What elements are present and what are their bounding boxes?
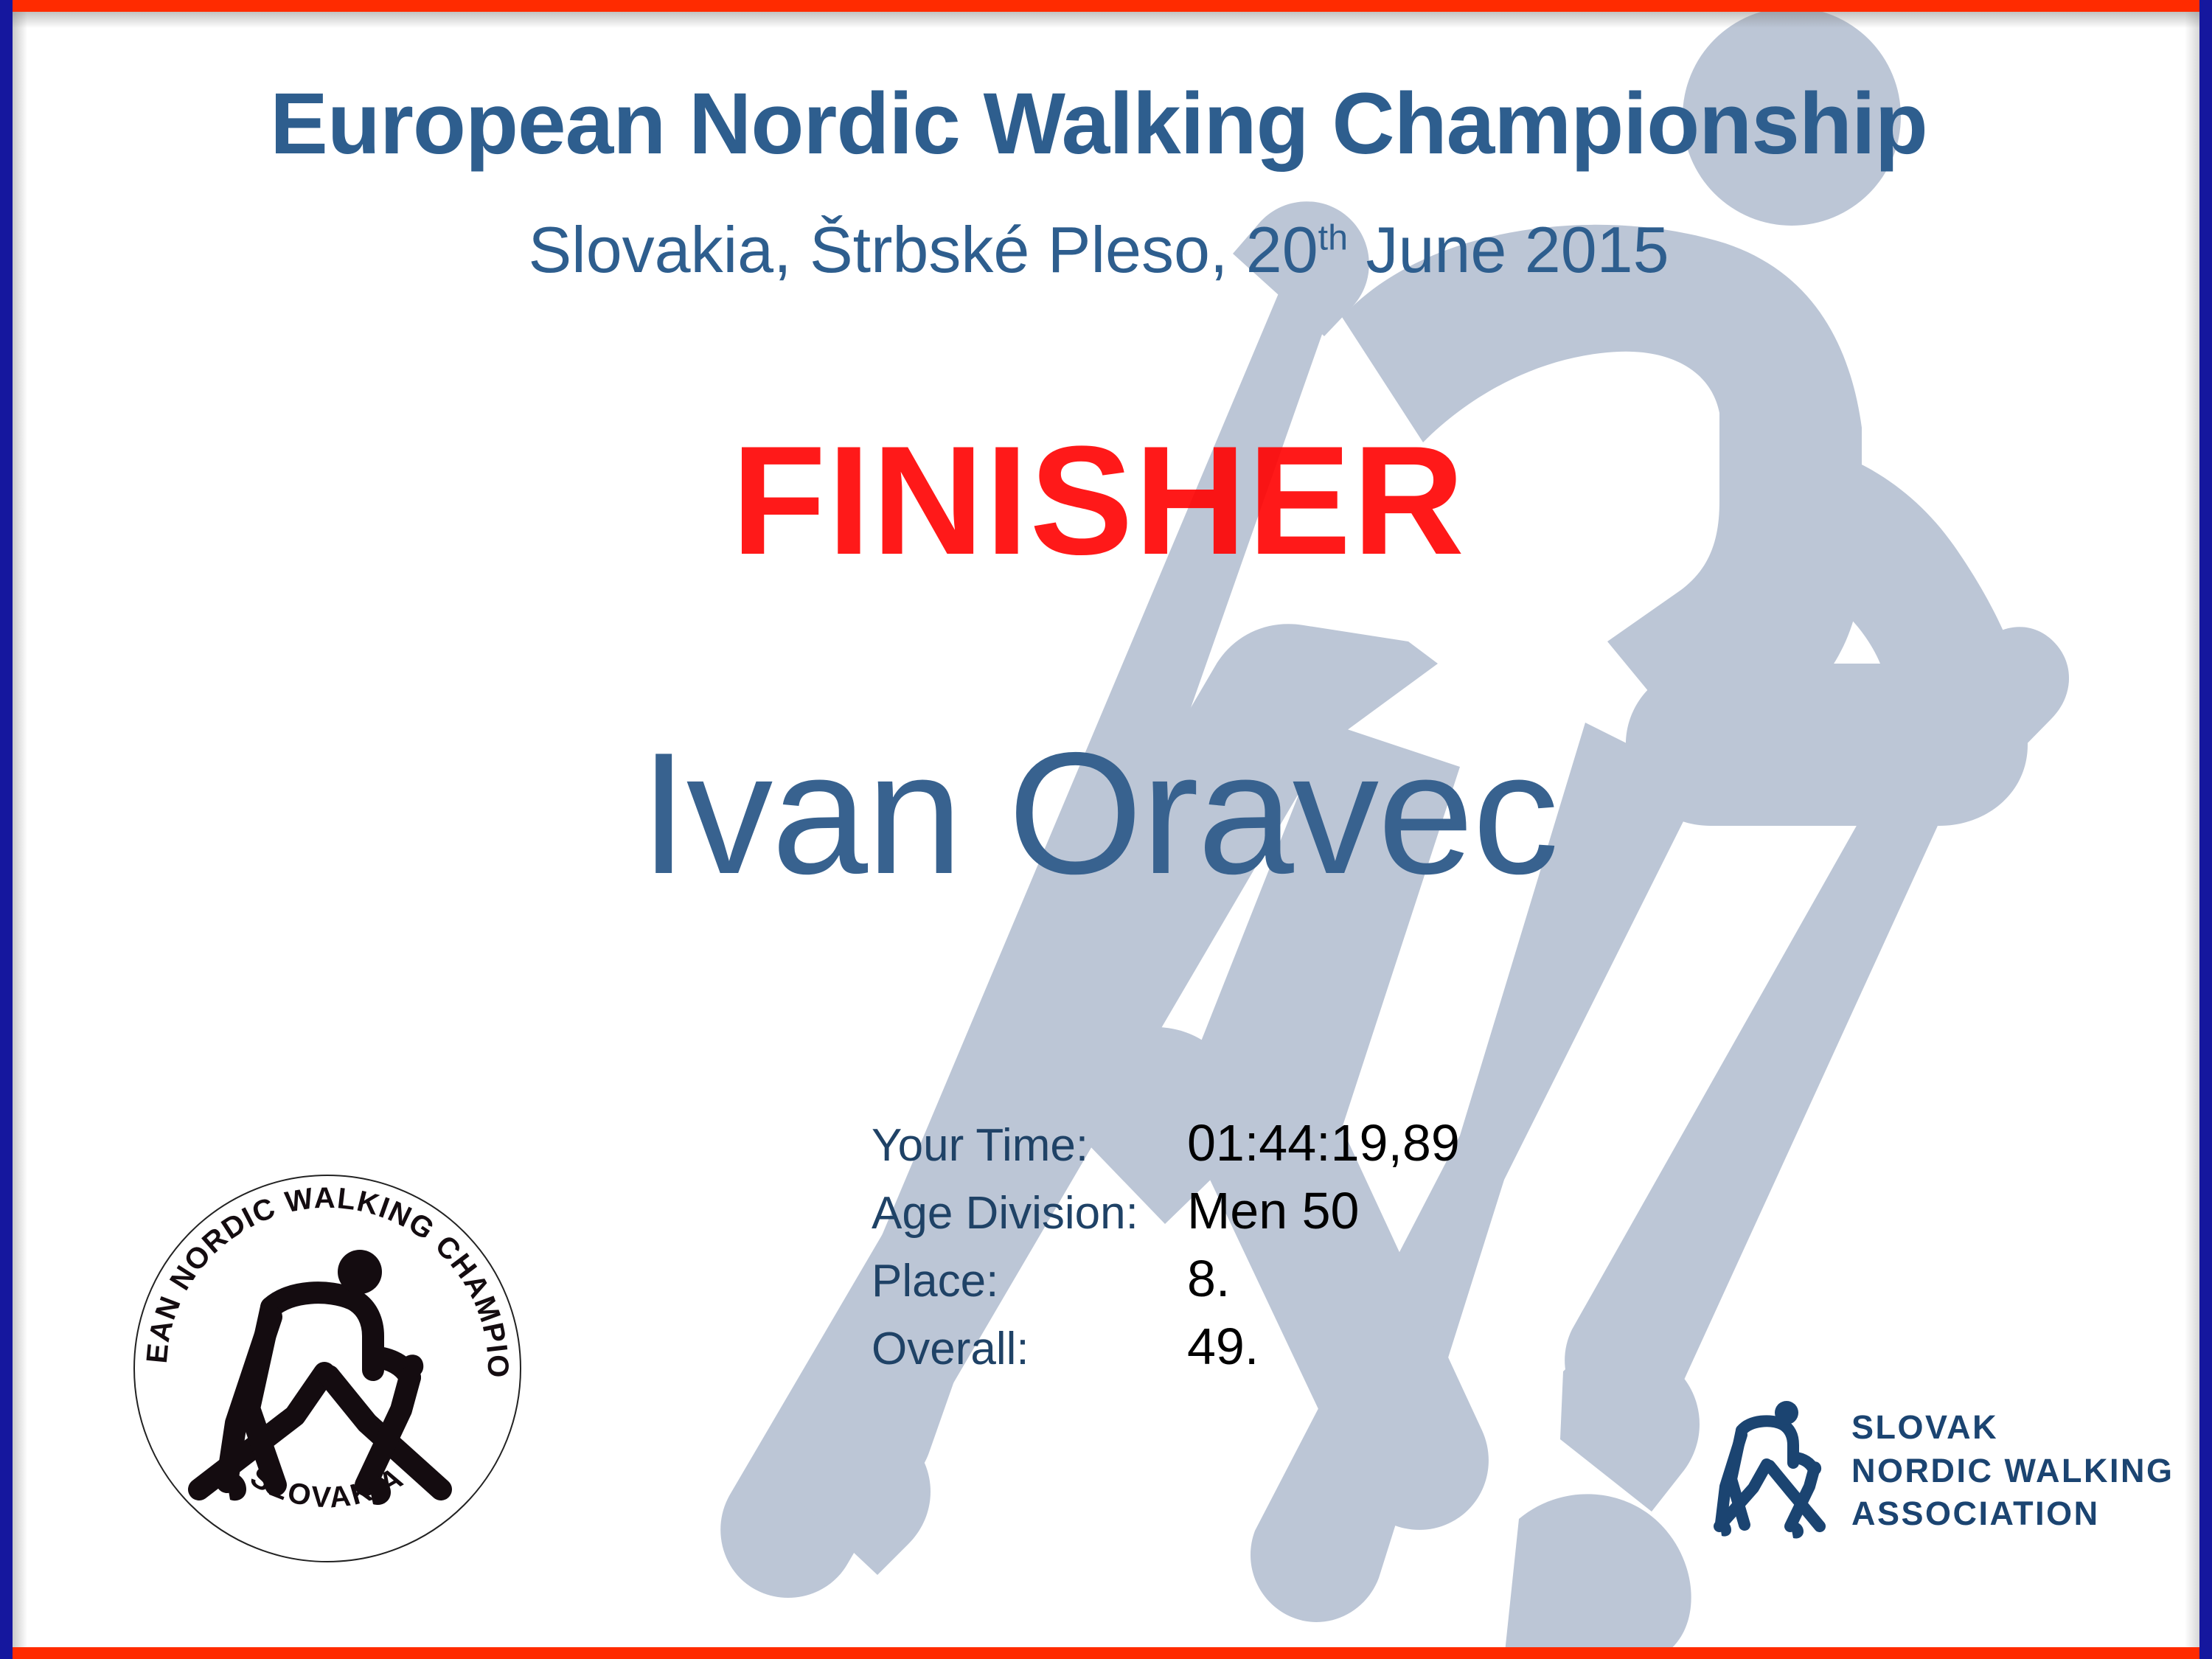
status-badge: FINISHER — [0, 423, 2197, 578]
page-title: European Nordic Walking Championship — [0, 74, 2197, 174]
snwa-walker-icon — [1703, 1392, 1832, 1551]
result-value-overall: 49. — [1187, 1317, 1259, 1376]
result-label-place: Place: — [872, 1255, 1187, 1307]
border-right-shadow — [2185, 0, 2199, 1659]
subtitle-prefix: Slovakia, Štrbské Pleso, 20 — [528, 213, 1318, 286]
table-row: Your Time: 01:44:19,89 — [872, 1113, 1460, 1181]
border-left — [0, 0, 13, 1659]
snwa-line-2: NORDIC WALKING — [1851, 1450, 2174, 1493]
enwc-emblem: EUROPEAN NORDIC WALKING CHAMPIONSHIP SLO… — [131, 1172, 524, 1565]
table-row: Age Division: Men 50 — [872, 1181, 1460, 1249]
result-label-time: Your Time: — [872, 1119, 1187, 1172]
subtitle-ordinal: th — [1318, 218, 1348, 258]
border-right — [2199, 0, 2212, 1659]
snwa-logo: SLOVAK NORDIC WALKING ASSOCIATION — [1703, 1386, 2116, 1556]
result-label-overall: Overall: — [872, 1323, 1187, 1375]
border-bottom — [0, 1647, 2212, 1659]
border-top-shadow — [0, 12, 2212, 28]
result-label-age-division: Age Division: — [872, 1187, 1187, 1239]
border-top — [0, 0, 2212, 12]
snwa-line-1: SLOVAK — [1851, 1406, 2174, 1450]
athlete-name: Ivan Oravec — [0, 726, 2197, 900]
result-value-age-division: Men 50 — [1187, 1181, 1359, 1240]
snwa-wordmark: SLOVAK NORDIC WALKING ASSOCIATION — [1851, 1406, 2174, 1536]
event-subtitle: Slovakia, Štrbské Pleso, 20th June 2015 — [0, 212, 2197, 288]
results-block: Your Time: 01:44:19,89 Age Division: Men… — [872, 1113, 1460, 1385]
subtitle-suffix: June 2015 — [1348, 213, 1669, 286]
result-value-place: 8. — [1187, 1249, 1230, 1308]
snwa-line-3: ASSOCIATION — [1851, 1492, 2174, 1536]
border-left-shadow — [13, 0, 27, 1659]
result-value-time: 01:44:19,89 — [1187, 1113, 1460, 1172]
certificate-page: European Nordic Walking Championship Slo… — [0, 0, 2212, 1659]
table-row: Overall: 49. — [872, 1317, 1460, 1385]
table-row: Place: 8. — [872, 1249, 1460, 1317]
